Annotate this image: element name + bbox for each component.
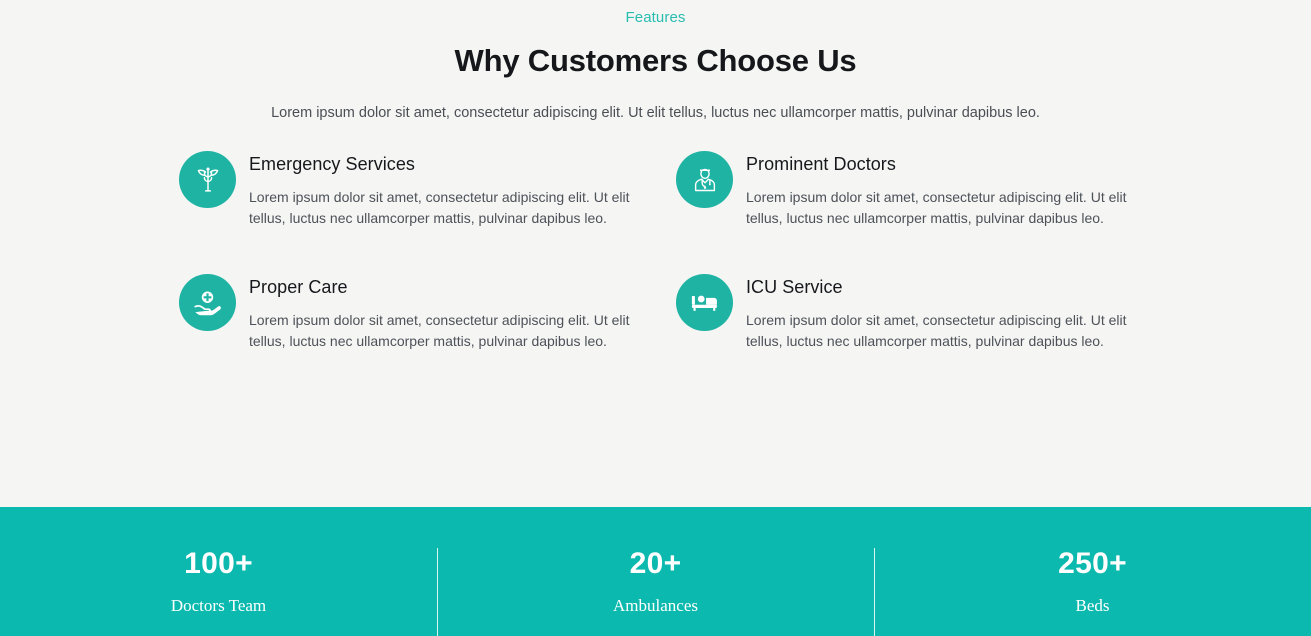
stat-label: Beds [874, 595, 1311, 617]
stat-doctors-team: 100+ Doctors Team [0, 546, 437, 617]
feature-card-icu-service[interactable]: ICU Service Lorem ipsum dolor sit amet, … [676, 273, 1152, 352]
feature-title: Proper Care [249, 275, 649, 299]
page-title: Why Customers Choose Us [0, 43, 1311, 79]
feature-body: Proper Care Lorem ipsum dolor sit amet, … [249, 273, 649, 352]
caduceus-icon [179, 151, 236, 208]
stat-label: Doctors Team [0, 595, 437, 617]
feature-description: Lorem ipsum dolor sit amet, consectetur … [746, 187, 1146, 229]
stats-bar: 100+ Doctors Team 20+ Ambulances 250+ Be… [0, 507, 1311, 636]
section-eyebrow: Features [0, 0, 1311, 27]
features-section: Features Why Customers Choose Us Lorem i… [0, 0, 1311, 507]
feature-body: ICU Service Lorem ipsum dolor sit amet, … [746, 273, 1146, 352]
stat-value: 250+ [874, 546, 1311, 582]
doctor-icon [676, 151, 733, 208]
feature-body: Emergency Services Lorem ipsum dolor sit… [249, 150, 649, 229]
feature-title: Prominent Doctors [746, 152, 1146, 176]
stat-beds: 250+ Beds [874, 546, 1311, 617]
stat-ambulances: 20+ Ambulances [437, 546, 874, 617]
hospital-bed-icon [676, 274, 733, 331]
stat-value: 100+ [0, 546, 437, 582]
feature-description: Lorem ipsum dolor sit amet, consectetur … [746, 310, 1146, 352]
feature-description: Lorem ipsum dolor sit amet, consectetur … [249, 187, 649, 229]
feature-title: Emergency Services [249, 152, 649, 176]
stat-label: Ambulances [437, 595, 874, 617]
feature-body: Prominent Doctors Lorem ipsum dolor sit … [746, 150, 1146, 229]
feature-grid: Emergency Services Lorem ipsum dolor sit… [179, 150, 1152, 352]
feature-card-emergency-services[interactable]: Emergency Services Lorem ipsum dolor sit… [179, 150, 655, 229]
stats-row: 100+ Doctors Team 20+ Ambulances 250+ Be… [0, 507, 1311, 617]
feature-card-proper-care[interactable]: Proper Care Lorem ipsum dolor sit amet, … [179, 273, 655, 352]
feature-card-prominent-doctors[interactable]: Prominent Doctors Lorem ipsum dolor sit … [676, 150, 1152, 229]
feature-title: ICU Service [746, 275, 1146, 299]
stat-value: 20+ [437, 546, 874, 582]
feature-description: Lorem ipsum dolor sit amet, consectetur … [249, 310, 649, 352]
hand-holding-medical-cross-icon [179, 274, 236, 331]
section-subtitle: Lorem ipsum dolor sit amet, consectetur … [0, 103, 1311, 123]
